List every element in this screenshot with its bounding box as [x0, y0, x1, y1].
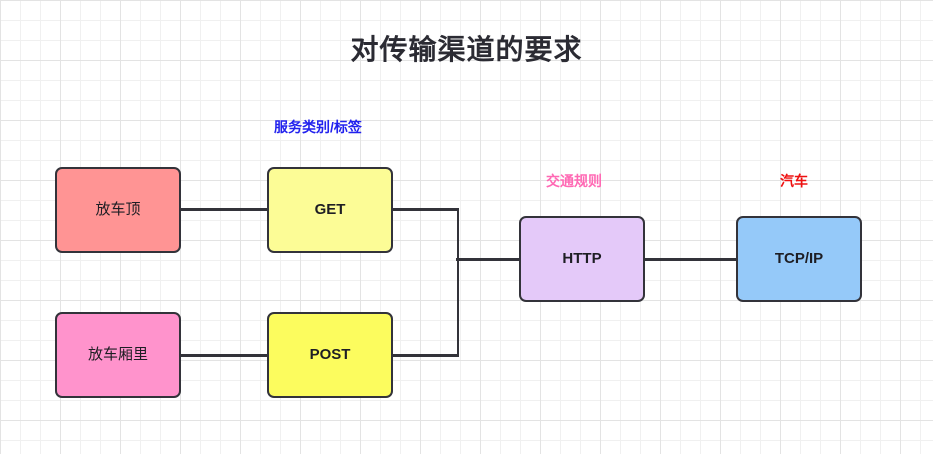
node-label: GET: [315, 201, 346, 219]
edge-junction-trunk: [457, 208, 460, 357]
edge-cabin-to-post: [181, 354, 269, 357]
edge-http-to-tcpip: [643, 258, 738, 261]
edge-roof-to-get: [181, 208, 269, 211]
edge-post-to-junction: [391, 354, 459, 357]
node-label: POST: [310, 346, 351, 364]
edge-get-to-junction: [391, 208, 459, 211]
node-label: 放车厢里: [88, 346, 148, 364]
node-label: TCP/IP: [775, 250, 823, 268]
diagram-canvas: 对传输渠道的要求 服务类别/标签 交通规则 汽车 放车顶 放车厢里 GET PO…: [0, 0, 933, 454]
annotation-car: 汽车: [780, 171, 808, 191]
node-label: HTTP: [562, 250, 601, 268]
page-title: 对传输渠道的要求: [0, 28, 933, 68]
annotation-service-type: 服务类别/标签: [274, 117, 362, 137]
node-get[interactable]: GET: [267, 167, 393, 253]
node-http[interactable]: HTTP: [519, 216, 645, 302]
annotation-traffic-rule: 交通规则: [546, 171, 602, 191]
edge-junction-to-http: [456, 258, 521, 261]
node-label: 放车顶: [95, 201, 140, 219]
node-tcpip[interactable]: TCP/IP: [736, 216, 862, 302]
node-post[interactable]: POST: [267, 312, 393, 398]
node-roof[interactable]: 放车顶: [55, 167, 181, 253]
node-cabin[interactable]: 放车厢里: [55, 312, 181, 398]
